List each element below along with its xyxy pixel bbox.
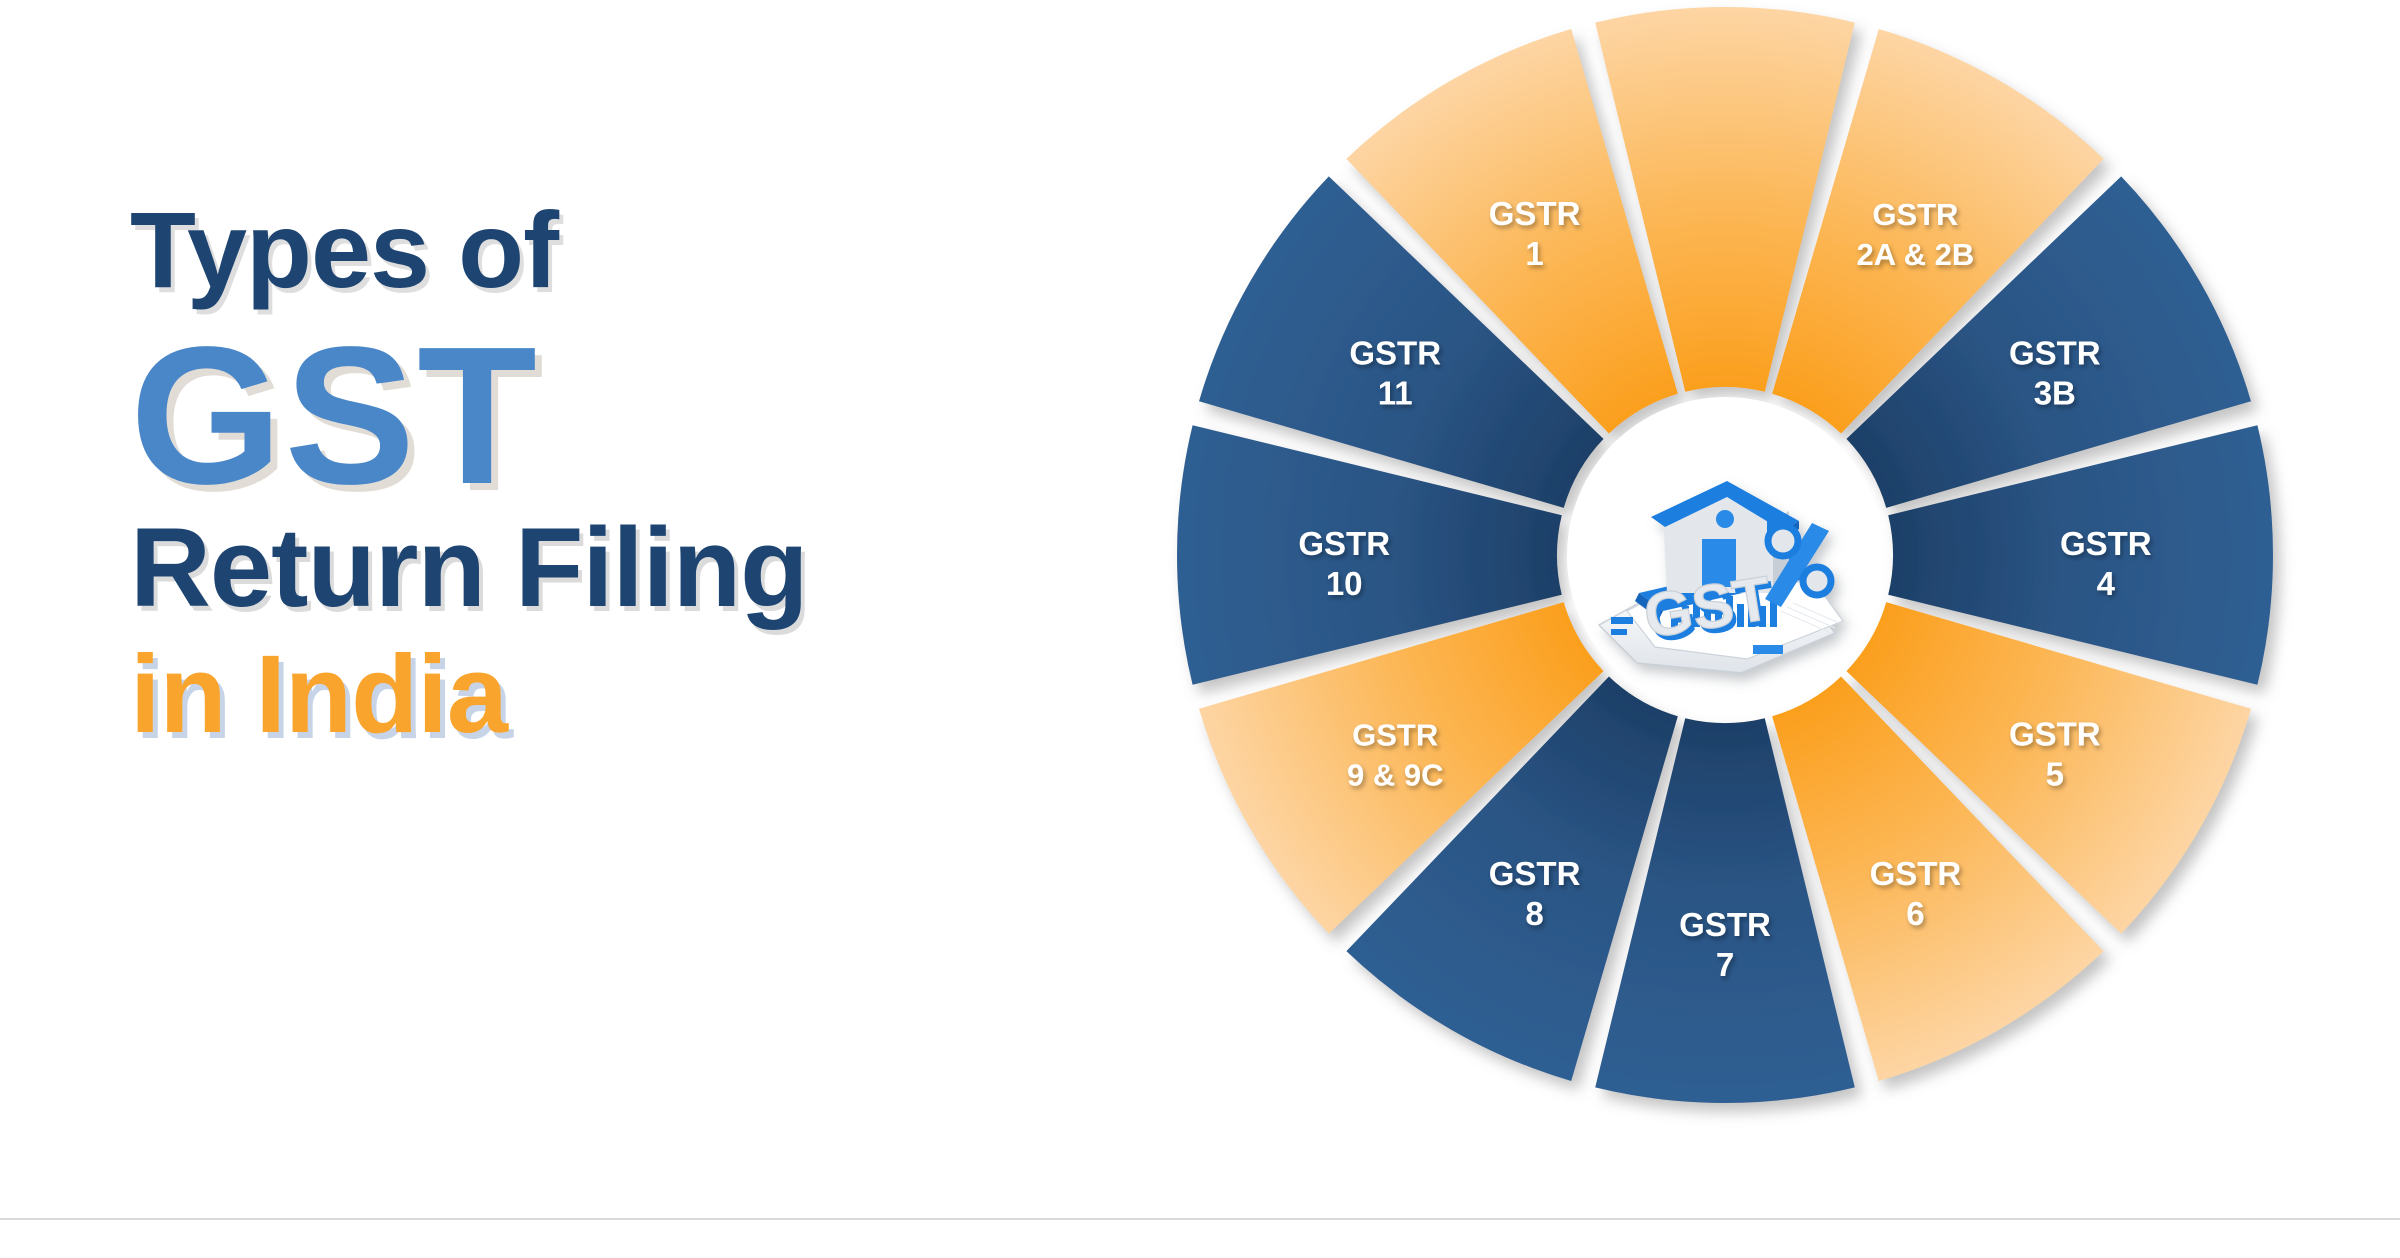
- segment-label-title: GSTR: [1352, 717, 1438, 752]
- segment-label-title: GSTR: [1679, 906, 1771, 943]
- segment-label-title: GSTR: [2060, 525, 2152, 562]
- segment-label-title: GSTR: [1872, 197, 1958, 232]
- segment-label-subtitle: 5: [2046, 755, 2064, 792]
- segment-label-subtitle: 2A & 2B: [1857, 237, 1975, 272]
- bottom-divider: [0, 1218, 2400, 1220]
- segment-label-subtitle: 10: [1326, 565, 1363, 602]
- segment-label-subtitle: 1: [1525, 235, 1543, 272]
- gst-3d-illustration: GST GST: [1567, 397, 1884, 714]
- segment-label-subtitle: 7: [1716, 946, 1734, 983]
- segment-label-subtitle: 9 & 9C: [1347, 757, 1443, 792]
- segment-label-subtitle: 3B: [2034, 375, 2076, 412]
- segment-label-title: GSTR: [2009, 715, 2101, 752]
- headline-line-4: in India: [130, 640, 1160, 750]
- wheel-hub: GST GST: [1567, 397, 1884, 714]
- segment-label-title: GSTR: [1489, 855, 1581, 892]
- infographic-canvas: Types of GST Return Filing in India: [0, 0, 2400, 1258]
- segment-label-subtitle: 4: [2097, 565, 2116, 602]
- segment-label-subtitle: 6: [1906, 895, 1924, 932]
- headline-block: Types of GST Return Filing in India: [130, 196, 1160, 750]
- headline-line-3: Return Filing: [130, 512, 1160, 624]
- segment-label-title: GSTR: [1489, 195, 1581, 232]
- segment-label-title: GSTR: [1349, 335, 1441, 372]
- headline-line-2-gst: GST: [130, 318, 1160, 514]
- segment-label-subtitle: 11: [1378, 375, 1413, 412]
- segment-label-title: GSTR: [1870, 855, 1962, 892]
- segment-label-subtitle: 8: [1525, 895, 1543, 932]
- segment-label-title: GSTR: [1298, 525, 1390, 562]
- segment-label-title: GSTR: [2009, 335, 2101, 372]
- headline-line-1: Types of: [130, 196, 1160, 304]
